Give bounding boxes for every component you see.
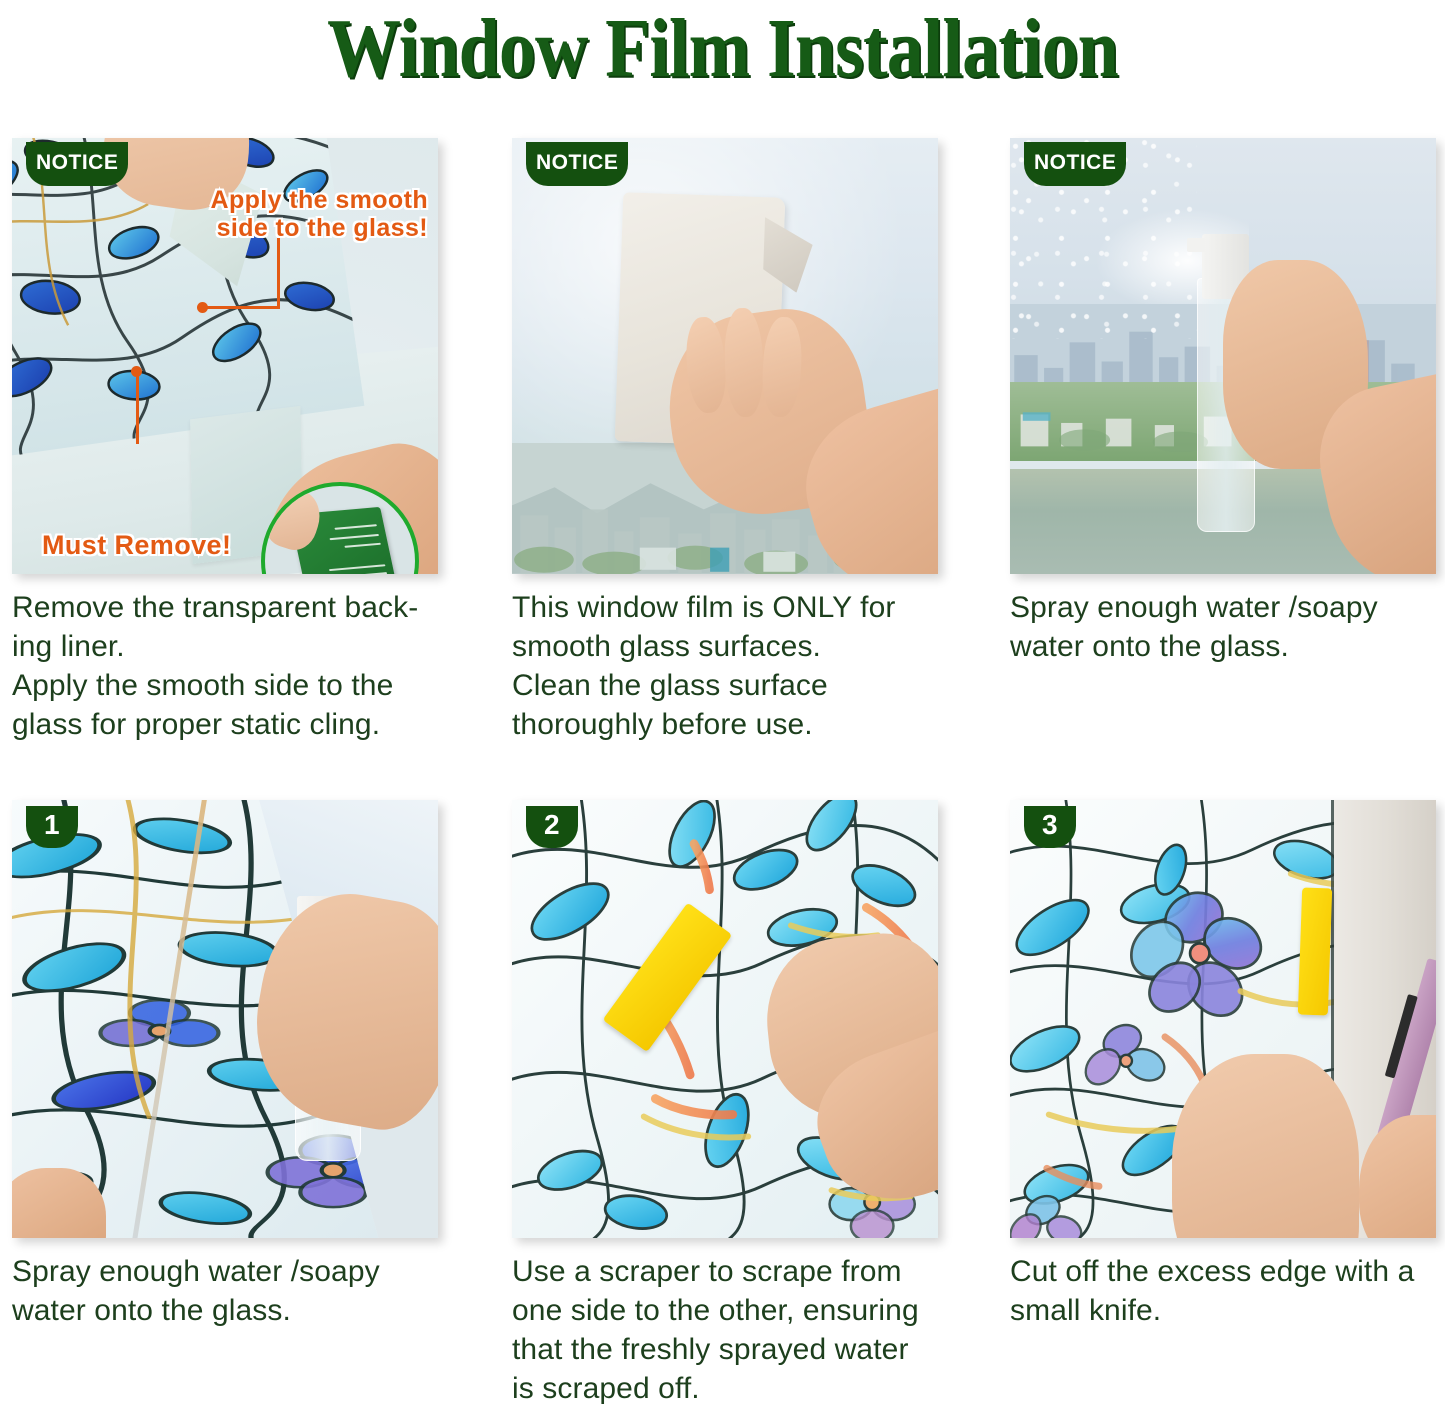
instruction-panel-2: NOTICE This window film is ONLY for smoo… <box>512 138 949 744</box>
badge-label: NOTICE <box>36 152 118 173</box>
step-badge-3: 3 <box>1024 806 1076 848</box>
leader-line-vertical <box>277 238 280 308</box>
notice-badge: NOTICE <box>26 142 128 186</box>
yellow-scraper <box>1297 887 1331 1015</box>
panel-1-photo: NOTICE Apply the smooth side to the glas… <box>12 138 438 574</box>
panel-3-photo: NOTICE <box>1010 138 1436 574</box>
hand-holding-scraper <box>1172 1054 1359 1238</box>
instruction-panel-1: NOTICE Apply the smooth side to the glas… <box>12 138 449 744</box>
panel-1-caption: Remove the transparent back- ing liner. … <box>12 588 444 744</box>
panel-6-caption: Cut off the excess edge with a small kni… <box>1010 1252 1442 1330</box>
leader-dot-must-remove <box>131 366 142 377</box>
panel-2-caption: This window film is ONLY for smooth glas… <box>512 588 944 744</box>
instruction-panel-3: NOTICE Spray enough water /soapy water o… <box>1010 138 1445 666</box>
step-badge-1: 1 <box>26 806 78 848</box>
instruction-row-bottom: 1 Spray enough water /soapy water onto t… <box>0 800 1445 1410</box>
panel-5-photo: 2 <box>512 800 938 1238</box>
annotation-apply-smooth-side: Apply the smooth side to the glass! <box>210 186 428 242</box>
instruction-panel-5: 2 Use a scraper to scrape from one side … <box>512 800 949 1408</box>
leader-line-must-remove <box>136 370 139 444</box>
panel-2-photo: NOTICE <box>512 138 938 574</box>
instruction-row-top: NOTICE Apply the smooth side to the glas… <box>0 138 1445 758</box>
step-badge-2: 2 <box>526 806 578 848</box>
badge-label: 1 <box>44 811 60 839</box>
panel-6-photo: 3 <box>1010 800 1436 1238</box>
panel-4-photo: 1 <box>12 800 438 1238</box>
badge-label: NOTICE <box>1034 152 1116 173</box>
annotation-must-remove: Must Remove! <box>42 530 231 560</box>
badge-label: 3 <box>1042 811 1058 839</box>
notice-badge: NOTICE <box>1024 142 1126 186</box>
page-title: Window Film Installation <box>87 0 1359 96</box>
badge-label: NOTICE <box>536 152 618 173</box>
panel-4-caption: Spray enough water /soapy water onto the… <box>12 1252 444 1330</box>
badge-label: 2 <box>544 811 560 839</box>
leader-line-horizontal <box>202 306 280 309</box>
leader-dot <box>197 302 208 313</box>
panel-3-caption: Spray enough water /soapy water onto the… <box>1010 588 1442 666</box>
instruction-panel-4: 1 Spray enough water /soapy water onto t… <box>12 800 449 1330</box>
notice-badge: NOTICE <box>526 142 628 186</box>
panel-5-caption: Use a scraper to scrape from one side to… <box>512 1252 944 1408</box>
instruction-panel-6: 3 Cut off the excess edge with a small k… <box>1010 800 1445 1330</box>
